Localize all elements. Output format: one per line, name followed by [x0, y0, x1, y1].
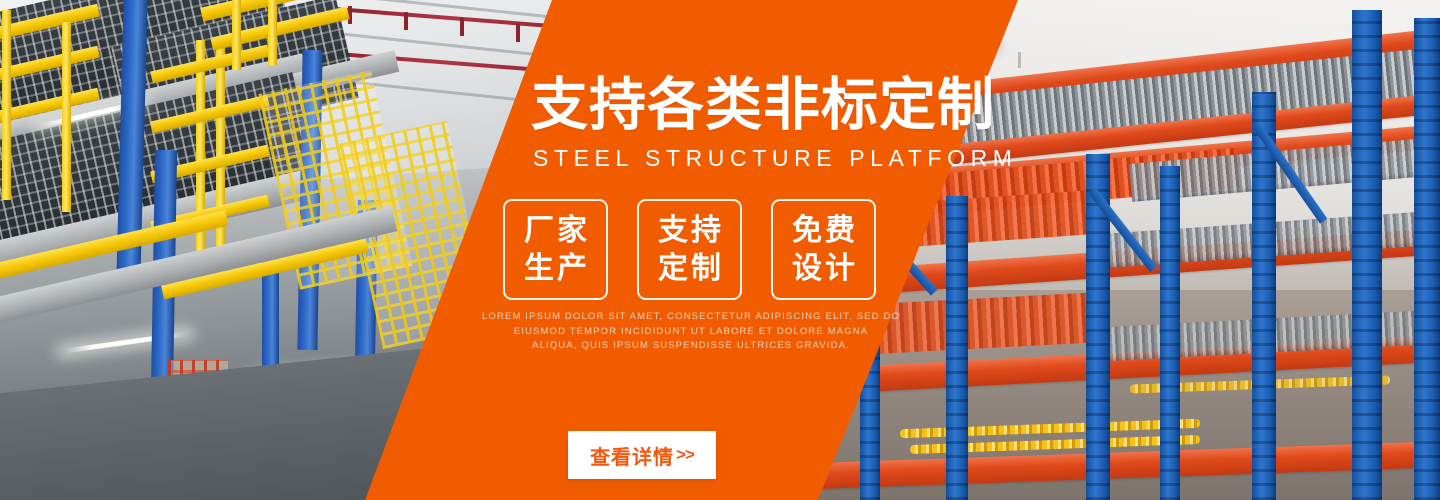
feature-badge-manufacturer[interactable]: 厂家 生产	[503, 199, 608, 300]
promo-banner: 支持各类非标定制 STEEL STRUCTURE PLATFORM 厂家 生产 …	[0, 0, 1440, 500]
badge-line-2: 定制	[655, 250, 724, 288]
feature-badge-customization[interactable]: 支持 定制	[637, 199, 742, 300]
view-details-button[interactable]: 查看详情 >>	[568, 431, 716, 479]
badge-line-2: 设计	[789, 250, 858, 288]
badge-line-1: 免费	[789, 212, 858, 250]
description-line-3: ALIQUA, QUIS IPSUM SUSPENDISSE ULTRICES …	[455, 339, 927, 354]
badge-line-1: 支持	[655, 212, 724, 250]
description-line-2: EIUSMOD TEMPOR INCIDIDUNT UT LABORE ET D…	[455, 325, 927, 340]
badge-line-2: 生产	[521, 250, 590, 288]
description-line-1: LOREM IPSUM DOLOR SIT AMET, CONSECTETUR …	[455, 310, 927, 325]
banner-title: 支持各类非标定制	[531, 74, 995, 136]
feature-badge-group: 厂家 生产 支持 定制 免费 设计	[503, 199, 876, 300]
banner-description: LOREM IPSUM DOLOR SIT AMET, CONSECTETUR …	[455, 310, 927, 354]
badge-line-1: 厂家	[521, 212, 590, 250]
chevron-right-icon: >>	[676, 445, 694, 465]
cta-label: 查看详情	[590, 441, 674, 470]
feature-badge-free-design[interactable]: 免费 设计	[771, 199, 876, 300]
banner-content: 支持各类非标定制 STEEL STRUCTURE PLATFORM 厂家 生产 …	[0, 0, 1440, 500]
banner-subtitle: STEEL STRUCTURE PLATFORM	[533, 145, 1018, 171]
